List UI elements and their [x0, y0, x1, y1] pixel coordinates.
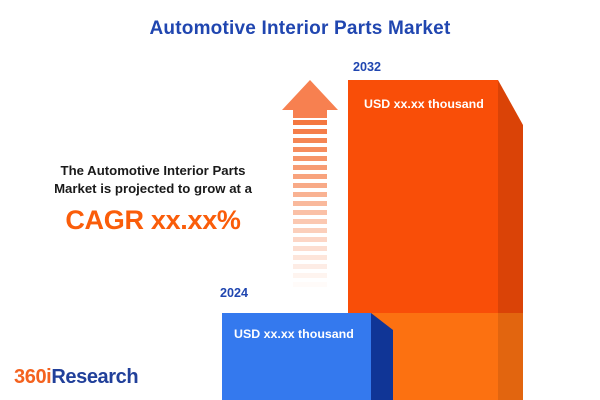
arrow-stripe: [293, 246, 327, 251]
arrow-stripe: [293, 219, 327, 224]
arrow-stripe: [293, 156, 327, 161]
arrow-head-icon: [282, 80, 338, 110]
bar-2032-value-label: USD xx.xx thousand: [364, 97, 484, 111]
arrow-stripe: [293, 228, 327, 233]
arrow-stripe: [293, 237, 327, 242]
growth-arrow-up-icon: [282, 80, 338, 300]
arrow-stripe: [293, 192, 327, 197]
cagr-statement: The Automotive Interior Parts Market is …: [22, 162, 284, 236]
bar-2024-year-label: 2024: [220, 286, 248, 300]
brand-logo: 360iResearch: [14, 366, 138, 389]
arrow-stripe: [293, 201, 327, 206]
bar-2024-value-label: USD xx.xx thousand: [234, 327, 354, 341]
arrow-stripe: [293, 165, 327, 170]
statement-line-2: Market is projected to grow at a: [22, 180, 284, 198]
infographic-canvas: Automotive Interior Parts Market The Aut…: [0, 0, 600, 400]
arrow-stripe: [293, 129, 327, 134]
arrow-stripe: [293, 210, 327, 215]
arrow-stripe: [293, 174, 327, 179]
bar-2024-side-face: [371, 313, 393, 400]
arrow-stripe: [293, 264, 327, 269]
arrow-stripe: [293, 147, 327, 152]
arrow-stripe: [293, 255, 327, 260]
cagr-value: CAGR xx.xx%: [22, 205, 284, 236]
bar-2032-front-face: [348, 80, 498, 313]
arrow-stripe: [293, 138, 327, 143]
arrow-stripe: [293, 282, 327, 287]
page-title: Automotive Interior Parts Market: [0, 18, 600, 40]
logo-text-360i: 360i: [14, 366, 51, 388]
bar-2032-year-label: 2032: [353, 60, 381, 74]
bar-2032-side-face-lower: [498, 313, 523, 400]
logo-text-research: Research: [51, 366, 138, 388]
arrow-stripe: [293, 183, 327, 188]
arrow-stripe-body: [293, 120, 327, 300]
statement-line-1: The Automotive Interior Parts: [22, 162, 284, 180]
arrow-stripe: [293, 120, 327, 125]
arrow-stripe: [293, 273, 327, 278]
arrow-neck: [293, 109, 327, 118]
